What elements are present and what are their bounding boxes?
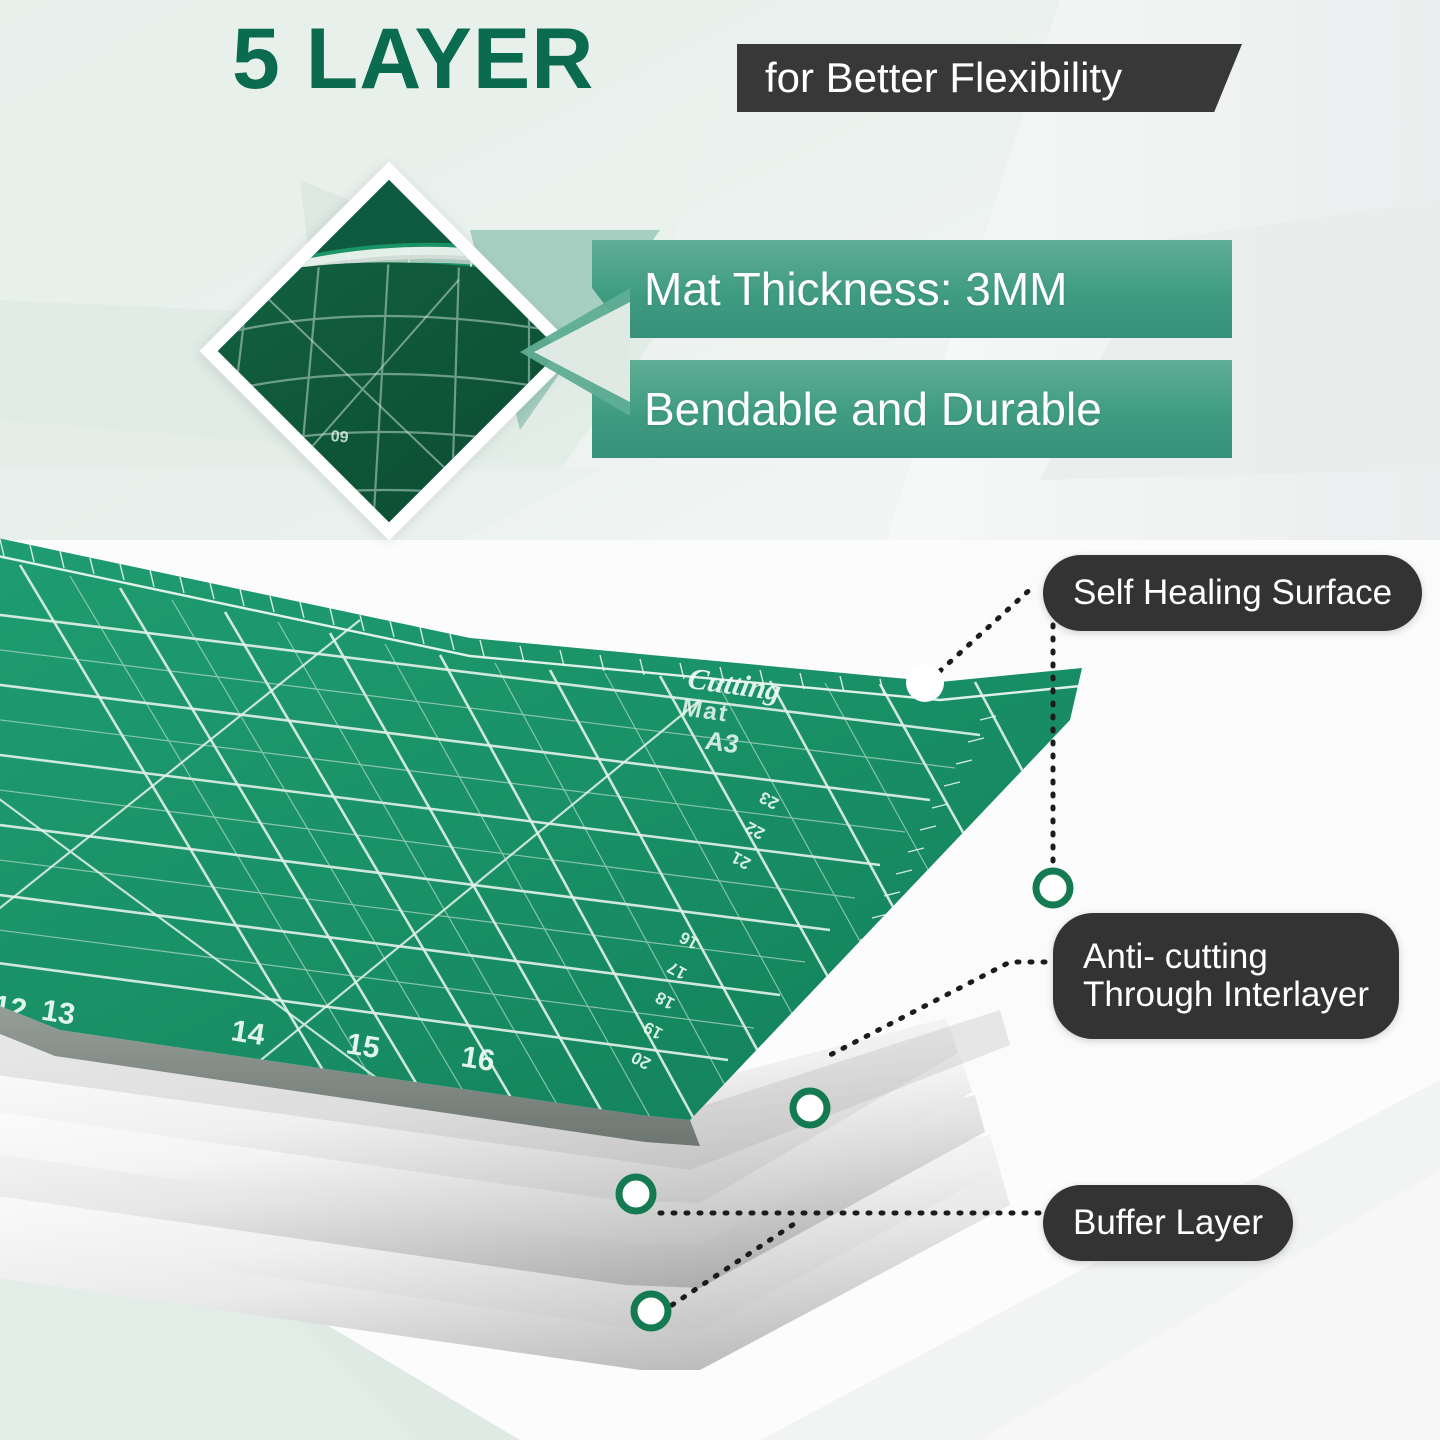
subtitle-banner: for Better Flexibility	[737, 44, 1242, 112]
mat-size-code: A3	[703, 725, 742, 759]
callout-buffer-layer: Buffer Layer	[1043, 1185, 1293, 1261]
feature-bar-label: Mat Thickness: 3MM	[592, 240, 1232, 338]
callout-label: Anti- cutting Through Interlayer	[1083, 938, 1369, 1014]
feature-bar-durability: Bendable and Durable	[592, 360, 1232, 458]
diamond-photo-clip: 24X16 21X15 20X14 18X13 220 210 200 190	[218, 180, 560, 522]
feature-bar-thickness: Mat Thickness: 3MM	[592, 240, 1232, 338]
callout-label: Buffer Layer	[1073, 1204, 1263, 1242]
callout-anti-cutting-interlayer: Anti- cutting Through Interlayer	[1053, 913, 1399, 1039]
callout-label: Self Healing Surface	[1073, 574, 1392, 612]
inset-angle-label: 60	[330, 426, 349, 444]
bent-mat-photo: 24X16 21X15 20X14 18X13 220 210 200 190	[218, 180, 560, 522]
mat-bottom-ruler-number: 16	[459, 1040, 497, 1078]
feature-bar-label: Bendable and Durable	[592, 360, 1232, 458]
callout-self-healing-surface: Self Healing Surface	[1043, 555, 1422, 631]
subtitle-text: for Better Flexibility	[737, 44, 1242, 112]
mat-bottom-ruler-number: 14	[229, 1014, 267, 1052]
chevron-connector-icon	[520, 288, 630, 416]
mat-bottom-ruler-number: 15	[344, 1027, 382, 1065]
page-title: 5 LAYER	[232, 16, 594, 102]
infographic-canvas: 12 13 14 15 16 16 17 18 19 20 21 22 23	[0, 0, 1440, 1440]
